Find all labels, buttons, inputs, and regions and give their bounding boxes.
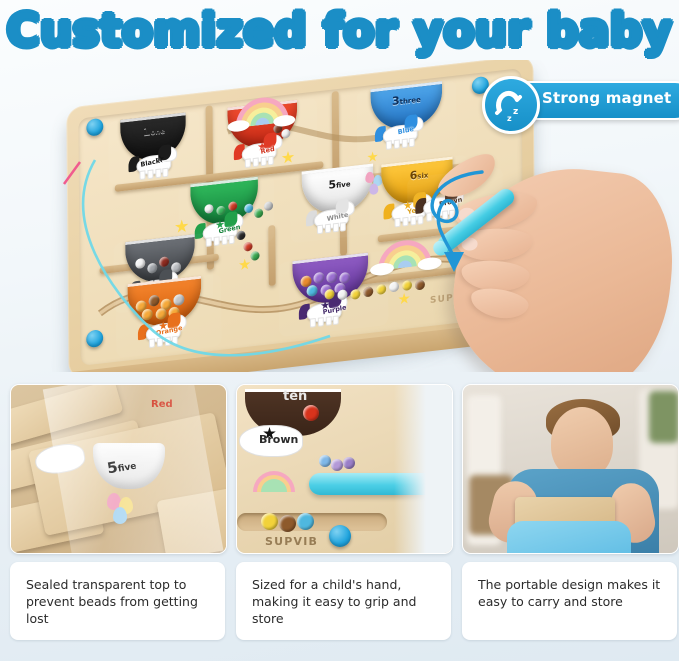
cup-color-name-closeup: Brown bbox=[259, 433, 298, 446]
thumbnail-row: 5five Red ten Brown SUPVIB bbox=[0, 384, 679, 556]
unicorn-legs bbox=[139, 168, 165, 178]
thumbnail-wand-grip[interactable]: ten Brown SUPVIB bbox=[236, 384, 453, 554]
cup-cell-blue[interactable]: 3three Blue bbox=[357, 80, 457, 162]
thumb-white-fade bbox=[394, 385, 452, 553]
thumbnail-portable-backpack[interactable] bbox=[462, 384, 679, 554]
unicorn-legs bbox=[149, 336, 175, 346]
unicorn-sticker-blue: Blue bbox=[379, 113, 425, 148]
transparent-lid-overlay bbox=[43, 384, 225, 554]
page-title: Customized for your baby bbox=[7, 2, 673, 60]
svg-text:z: z bbox=[507, 114, 512, 123]
little-finger bbox=[469, 285, 531, 323]
caption-card: The portable design makes it easy to car… bbox=[462, 562, 677, 640]
svg-text:z: z bbox=[513, 107, 518, 117]
cup-word-closeup: ten bbox=[283, 389, 307, 404]
caption-card: Sealed transparent top to prevent beads … bbox=[10, 562, 225, 640]
unicorn-legs bbox=[310, 316, 336, 326]
caption-row: Sealed transparent top to prevent beads … bbox=[0, 562, 679, 661]
unicorn-sticker-red: Red bbox=[238, 131, 284, 166]
bead bbox=[319, 455, 331, 467]
bead bbox=[261, 513, 278, 530]
background-foliage bbox=[649, 391, 679, 443]
caption-card: Sized for a child's hand, making it easy… bbox=[236, 562, 451, 640]
badge-icon-circle: z z bbox=[482, 76, 540, 134]
bead bbox=[279, 515, 296, 532]
cup-cell-orange[interactable]: Orange bbox=[116, 273, 222, 357]
bead bbox=[343, 457, 355, 469]
badge-label: Strong magnet bbox=[542, 89, 679, 107]
magnet-dock-knob bbox=[329, 525, 351, 547]
unicorn-sticker-white: White bbox=[310, 198, 356, 233]
caption-text: Sized for a child's hand, making it easy… bbox=[236, 562, 451, 627]
bead bbox=[303, 405, 319, 421]
annotation-arrow bbox=[420, 168, 500, 278]
unicorn-legs bbox=[245, 156, 271, 166]
unicorn-sticker-black: Black bbox=[132, 143, 178, 178]
bead bbox=[297, 513, 314, 530]
horseshoe-magnet-icon: z z bbox=[485, 79, 531, 125]
blue-backpack bbox=[507, 521, 631, 554]
unicorn-legs bbox=[317, 222, 343, 232]
board-brandmark: SUPVIB bbox=[265, 535, 318, 548]
bead bbox=[331, 459, 343, 471]
page-title-banner: Customized for your baby bbox=[0, 2, 679, 64]
caption-text: The portable design makes it easy to car… bbox=[462, 562, 677, 610]
rainbow-decal bbox=[253, 471, 295, 492]
thumbnail-sealed-lid[interactable]: 5five Red bbox=[10, 384, 227, 554]
unicorn-legs bbox=[386, 138, 412, 148]
cup-cell-black[interactable]: 1one Black bbox=[108, 111, 200, 186]
unicorn-sticker-orange: Orange bbox=[142, 311, 188, 346]
caption-text: Sealed transparent top to prevent beads … bbox=[10, 562, 225, 627]
